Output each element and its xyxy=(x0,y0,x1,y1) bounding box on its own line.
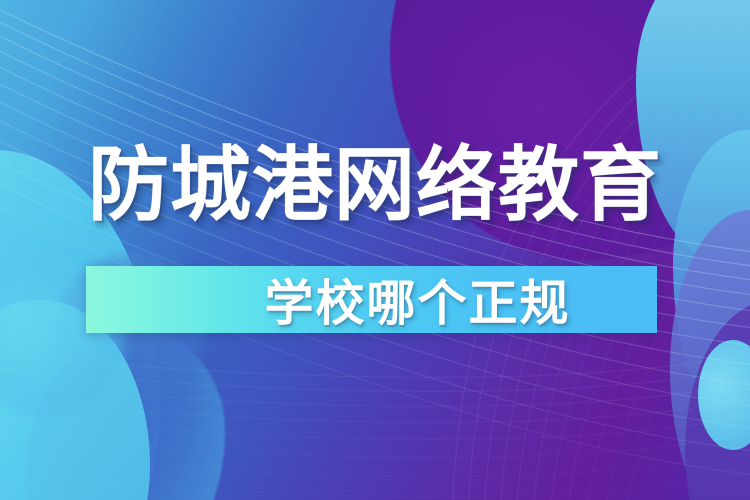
page-title: 防城港网络教育 xyxy=(0,146,750,227)
subtitle-text: 学校哪个正规 xyxy=(86,266,657,333)
subtitle-banner-bar: 学校哪个正规 xyxy=(86,266,657,333)
promo-banner: 防城港网络教育 学校哪个正规 xyxy=(0,0,750,500)
